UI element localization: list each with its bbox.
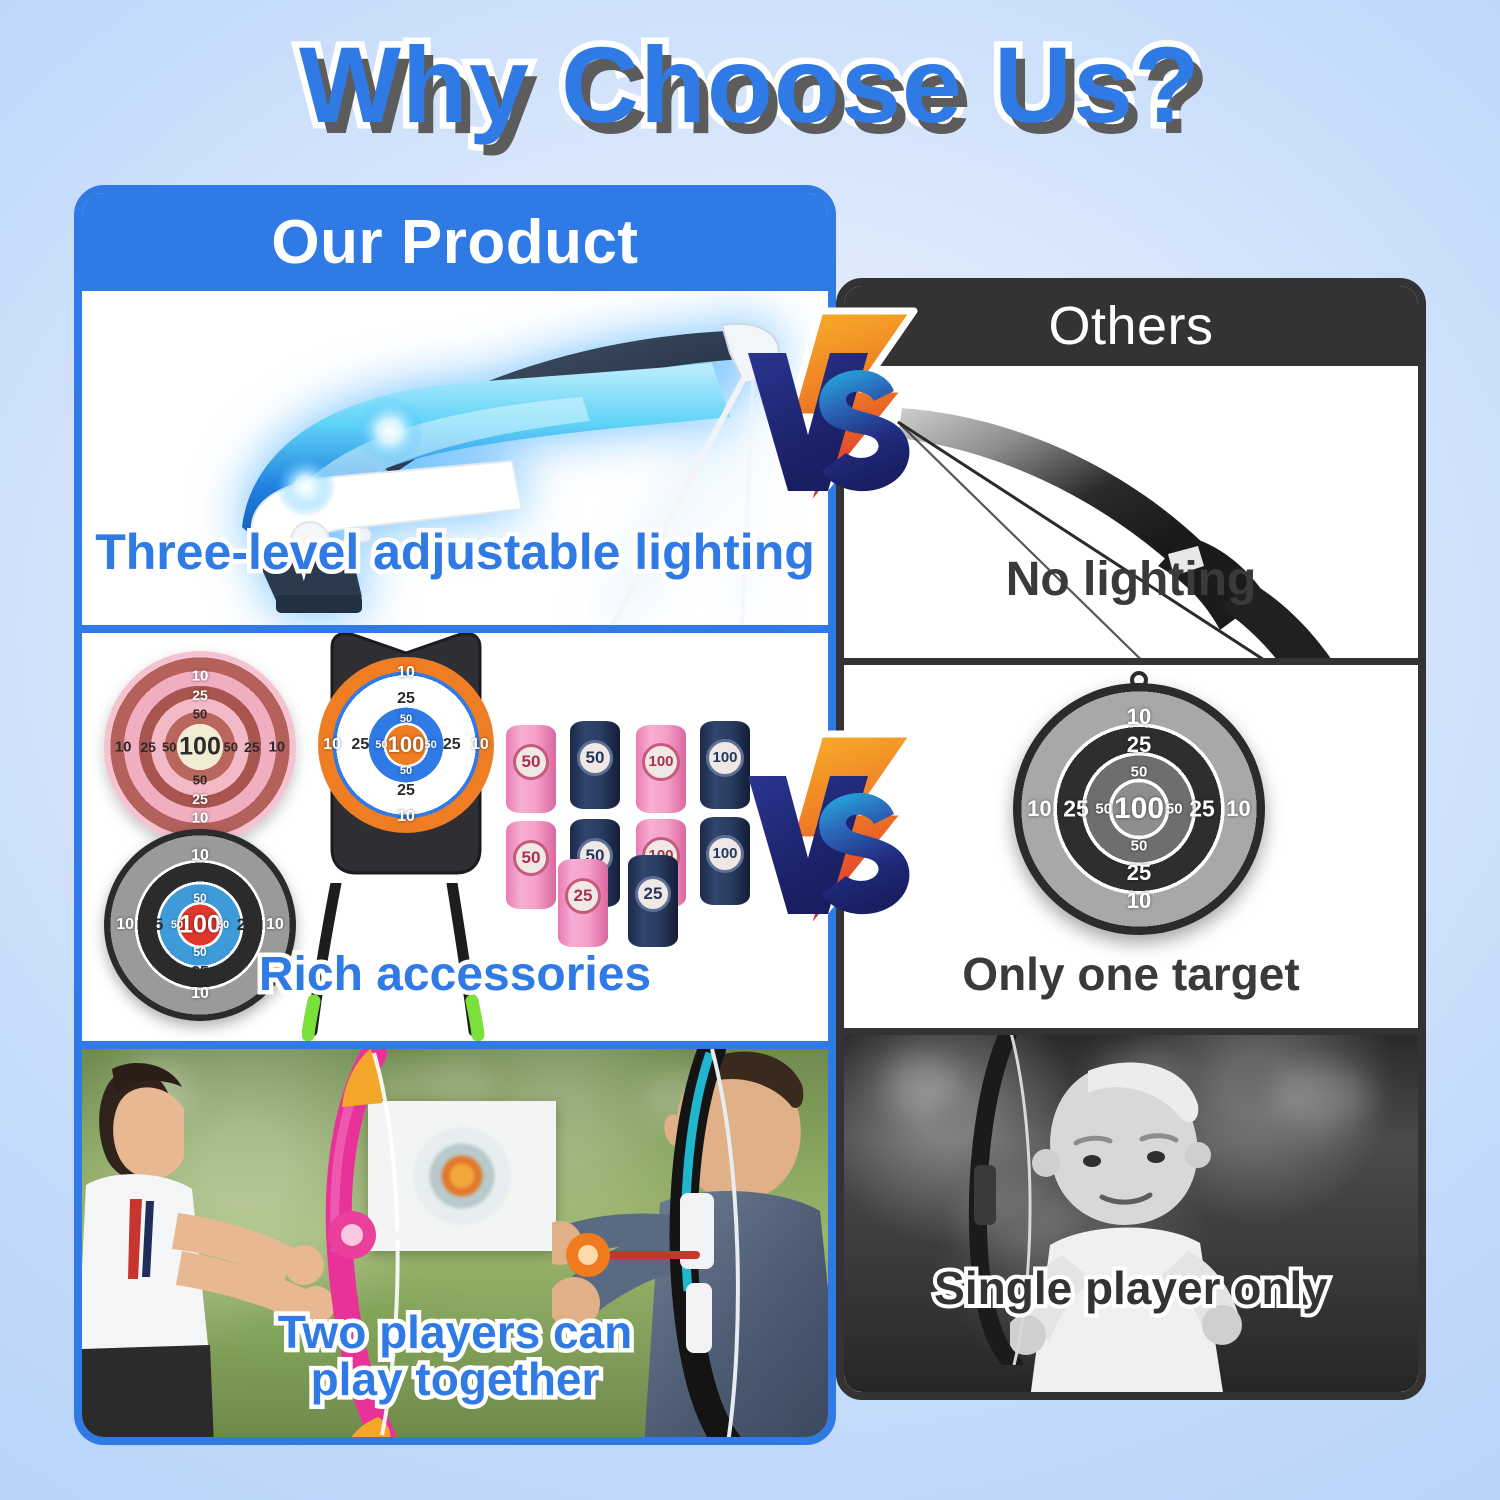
ring-score-100: 100 — [179, 911, 221, 940]
can-pink-25: 25 — [558, 859, 608, 947]
ring-score-50-bottom: 50 — [193, 772, 207, 787]
plain-black-bow-icon — [868, 386, 1418, 658]
gray-target-icon: 100 10 25 50 50 25 10 10 25 50 50 25 10 — [1013, 683, 1265, 935]
pink-target-icon: 100 10 25 50 50 25 10 10 25 50 50 25 10 — [104, 651, 296, 843]
ring-score-50-top: 50 — [400, 713, 412, 725]
ring-score-10-bottom: 10 — [191, 985, 209, 1003]
ring-score-25-top: 25 — [191, 868, 209, 886]
ring-score-25-bottom: 25 — [397, 782, 415, 800]
ring-score-25-left: 25 — [144, 915, 163, 935]
our-product-header-label: Our Product — [271, 207, 638, 278]
ring-score-10-top: 10 — [1127, 704, 1151, 730]
ring-score-50-bottom: 50 — [400, 765, 412, 777]
can-navy-25: 25 — [628, 855, 678, 947]
pink-bow-prop — [278, 1045, 458, 1439]
ring-score-50-right: 50 — [1166, 801, 1183, 818]
ring-score-50-right: 50 — [425, 739, 437, 751]
target-hanger-icon — [1130, 671, 1148, 689]
arrows-icon — [302, 883, 522, 1041]
stand-target-icon: 100 10 25 50 50 25 10 10 25 50 50 25 10 — [298, 629, 514, 899]
flying-arrow-prop — [562, 1225, 712, 1285]
soda-cans-group: 50 50 100 100 50 50 100 — [506, 721, 766, 951]
ring-score-50-right: 50 — [217, 919, 229, 931]
ring-score-25-top: 25 — [397, 690, 415, 708]
infographic-root: Why Choose Us? Our Product — [0, 0, 1500, 1500]
ring-score-10-bottom: 10 — [192, 810, 209, 827]
ring-score-25-bottom: 25 — [191, 964, 209, 982]
ring-score-50-left: 50 — [171, 919, 183, 931]
ring-score-10-right: 10 — [268, 739, 285, 756]
ring-score-10-left: 10 — [115, 739, 132, 756]
ring-score-25-bottom: 25 — [192, 791, 208, 807]
ring-score-10-top: 10 — [192, 667, 209, 684]
bw-bow-prop — [940, 1028, 1070, 1365]
can-pink-50: 50 — [506, 725, 556, 813]
ring-score-100: 100 — [1114, 792, 1164, 826]
ring-score-50-top: 50 — [193, 707, 207, 722]
ring-score-50-left: 50 — [1095, 801, 1112, 818]
led-bow-icon — [182, 297, 822, 625]
vs-badge-row-1 — [742, 305, 932, 520]
ring-score-100: 100 — [388, 732, 425, 758]
ring-score-50-left: 50 — [162, 740, 176, 755]
ring-score-10-right: 10 — [471, 736, 489, 754]
ring-score-10-left: 10 — [1027, 796, 1051, 822]
others-header-label: Others — [1048, 295, 1213, 357]
ring-score-25-bottom: 25 — [1127, 860, 1151, 886]
can-pink-100: 100 — [636, 725, 686, 813]
ring-score-10-left: 10 — [116, 916, 134, 934]
ring-score-50-right: 50 — [223, 740, 237, 755]
ring-score-25-left: 25 — [140, 739, 156, 755]
others-row-single-player: Single player only — [844, 1028, 1418, 1392]
ring-score-10-bottom: 10 — [397, 808, 415, 826]
ring-score-25-top: 25 — [1127, 732, 1151, 758]
ring-score-25-left: 25 — [1063, 796, 1089, 823]
ring-score-25-right: 25 — [1189, 796, 1215, 823]
caption-only-one-target: Only one target — [844, 951, 1418, 997]
ring-score-50-bottom: 50 — [1131, 837, 1148, 854]
black-target-icon: 100 10 25 50 50 25 10 10 25 50 50 25 10 — [104, 829, 296, 1021]
our-product-row-two-players: Two players can play together — [82, 1041, 828, 1439]
ring-score-25-left: 25 — [351, 736, 369, 754]
our-product-row-lighting: Three-level adjustable lighting — [82, 291, 828, 625]
ring-score-10-bottom: 10 — [1127, 888, 1151, 914]
ring-score-50-bottom: 50 — [193, 945, 206, 959]
ring-score-50-left: 50 — [375, 739, 387, 751]
ring-score-25-right: 25 — [237, 915, 256, 935]
can-pink-50: 50 — [506, 821, 556, 909]
can-navy-50: 50 — [570, 721, 620, 809]
vs-badge-row-2 — [742, 728, 932, 943]
ring-score-50-top: 50 — [193, 891, 206, 905]
our-product-panel: Our Product — [74, 185, 836, 1445]
ring-score-25-right: 25 — [443, 736, 461, 754]
ring-score-10-right: 10 — [266, 916, 284, 934]
ring-score-50-top: 50 — [1131, 764, 1148, 781]
ring-score-100: 100 — [179, 733, 221, 762]
ring-score-25-right: 25 — [244, 739, 260, 755]
page-title: Why Choose Us? — [0, 22, 1500, 147]
ring-score-10-left: 10 — [323, 736, 341, 754]
ring-score-10-right: 10 — [1226, 796, 1250, 822]
ring-score-25-top: 25 — [192, 687, 208, 703]
our-product-header: Our Product — [82, 193, 828, 291]
ring-score-10-top: 10 — [397, 664, 415, 682]
ring-score-10-top: 10 — [191, 847, 209, 865]
our-product-row-accessories: 100 10 25 50 50 25 10 10 25 50 50 25 10 … — [82, 625, 828, 1041]
